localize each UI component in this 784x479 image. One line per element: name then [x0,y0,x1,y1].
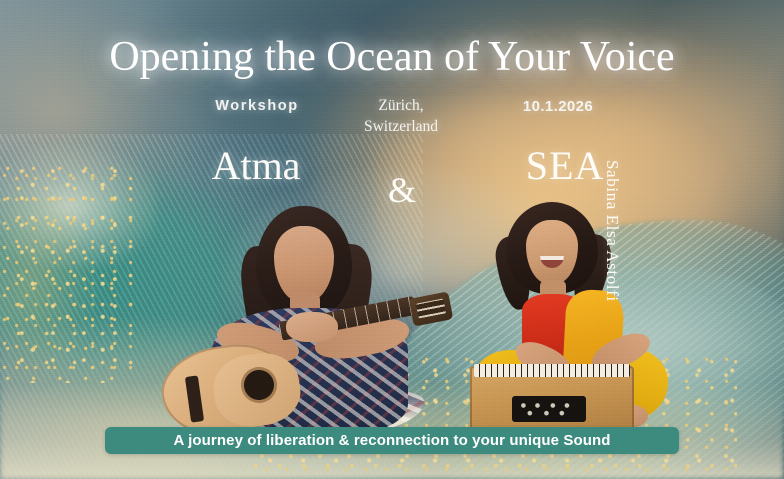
event-date: 10.1.2026 [500,98,616,115]
location-line-1: Zürich, [341,96,461,117]
location-line-2: Switzerland [341,117,461,138]
tagline-text: A journey of liberation & reconnection t… [173,432,610,449]
performer-name-atma: Atma [186,146,326,186]
poster-title: Opening the Ocean of Your Voice [0,36,784,78]
subtitle-row: Workshop Zürich, Switzerland 10.1.2026 [0,96,784,142]
performer-full-name-vertical: Sabina Elsa Astolfi [604,160,621,302]
event-poster: Opening the Ocean of Your Voice Workshop… [0,0,784,479]
tagline-banner: A journey of liberation & reconnection t… [105,427,679,454]
location-label: Zürich, Switzerland [341,96,461,138]
workshop-label: Workshop [205,98,309,114]
ampersand-separator: & [376,172,428,208]
